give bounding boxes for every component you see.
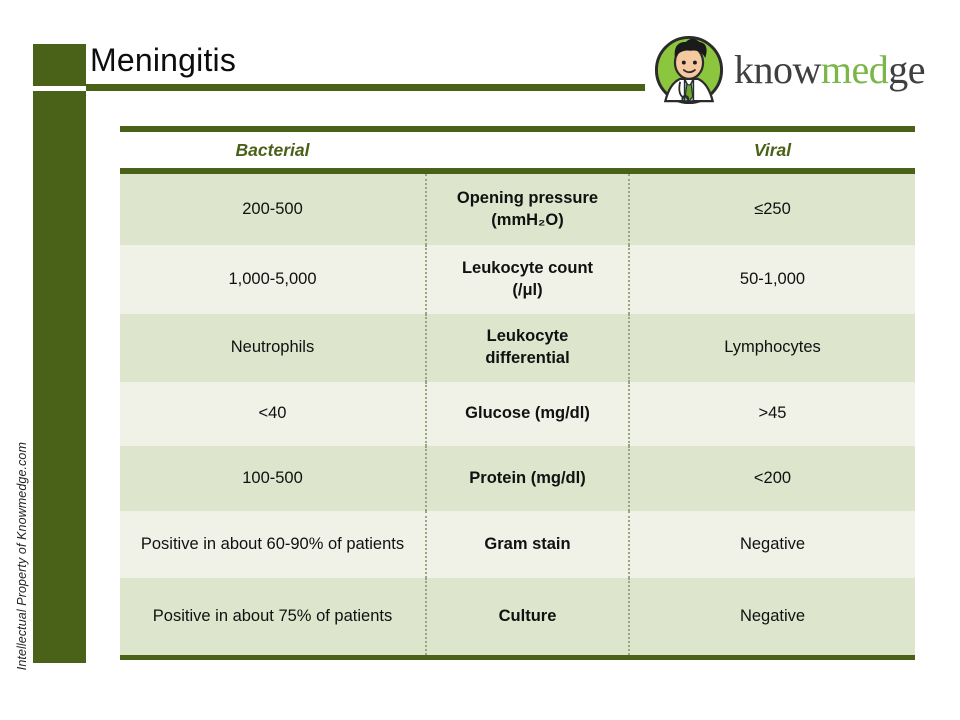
cell-parameter: Leukocyte differential bbox=[425, 314, 630, 382]
sidebar-accent-block-top bbox=[33, 44, 86, 86]
parameter-line-1: Leukocyte bbox=[487, 327, 569, 345]
cell-viral: Negative bbox=[630, 511, 915, 578]
logo-word-know: know bbox=[734, 47, 821, 92]
parameter-line-1: Leukocyte count bbox=[462, 259, 593, 277]
table-row: 1,000-5,000 Leukocyte count (/μl) 50-1,0… bbox=[120, 245, 915, 314]
cell-bacterial: 1,000-5,000 bbox=[120, 245, 425, 314]
watermark: Intellectual Property of Knowmedge.com bbox=[10, 270, 34, 670]
meningitis-comparison-table: Bacterial Viral 200-500 Opening pressure… bbox=[120, 126, 915, 660]
cell-parameter: Gram stain bbox=[425, 511, 630, 578]
cell-viral: Negative bbox=[630, 578, 915, 655]
logo-word-med: med bbox=[821, 47, 888, 92]
table-row: 200-500 Opening pressure (mmH₂O) ≤250 bbox=[120, 174, 915, 245]
table-row: Positive in about 60-90% of patients Gra… bbox=[120, 511, 915, 578]
title-underline-rule bbox=[86, 84, 645, 91]
table-row: Neutrophils Leukocyte differential Lymph… bbox=[120, 314, 915, 382]
page-title: Meningitis bbox=[90, 40, 236, 80]
table-bottom-rule bbox=[120, 655, 915, 660]
cell-bacterial: 200-500 bbox=[120, 174, 425, 245]
cell-parameter: Leukocyte count (/μl) bbox=[425, 245, 630, 314]
column-header-bacterial: Bacterial bbox=[120, 140, 425, 161]
parameter-line-2: (/μl) bbox=[512, 281, 542, 299]
cell-viral: >45 bbox=[630, 382, 915, 446]
doctor-avatar-icon bbox=[652, 33, 726, 107]
cell-parameter: Culture bbox=[425, 578, 630, 655]
cell-parameter: Protein (mg/dl) bbox=[425, 446, 630, 511]
logo-wordmark: knowmedge bbox=[734, 48, 925, 92]
cell-bacterial: Positive in about 75% of patients bbox=[120, 578, 425, 655]
table-row: <40 Glucose (mg/dl) >45 bbox=[120, 382, 915, 446]
parameter-line-2: differential bbox=[485, 349, 569, 367]
parameter-line-2: (mmH₂O) bbox=[491, 211, 563, 229]
cell-viral: 50-1,000 bbox=[630, 245, 915, 314]
cell-viral: ≤250 bbox=[630, 174, 915, 245]
column-header-viral: Viral bbox=[630, 140, 915, 161]
cell-viral: <200 bbox=[630, 446, 915, 511]
table-header-row: Bacterial Viral bbox=[120, 132, 915, 168]
cell-parameter: Glucose (mg/dl) bbox=[425, 382, 630, 446]
cell-bacterial: Neutrophils bbox=[120, 314, 425, 382]
cell-bacterial: 100-500 bbox=[120, 446, 425, 511]
watermark-text: Intellectual Property of Knowmedge.com bbox=[15, 442, 29, 670]
sidebar-accent-block-main bbox=[33, 91, 86, 663]
knowmedge-logo: knowmedge bbox=[652, 33, 925, 107]
cell-bacterial: Positive in about 60-90% of patients bbox=[120, 511, 425, 578]
parameter-line-1: Opening pressure bbox=[457, 189, 598, 207]
table-row: 100-500 Protein (mg/dl) <200 bbox=[120, 446, 915, 511]
cell-bacterial: <40 bbox=[120, 382, 425, 446]
cell-viral: Lymphocytes bbox=[630, 314, 915, 382]
logo-word-ge: ge bbox=[888, 47, 925, 92]
table-row: Positive in about 75% of patients Cultur… bbox=[120, 578, 915, 655]
cell-parameter: Opening pressure (mmH₂O) bbox=[425, 174, 630, 245]
